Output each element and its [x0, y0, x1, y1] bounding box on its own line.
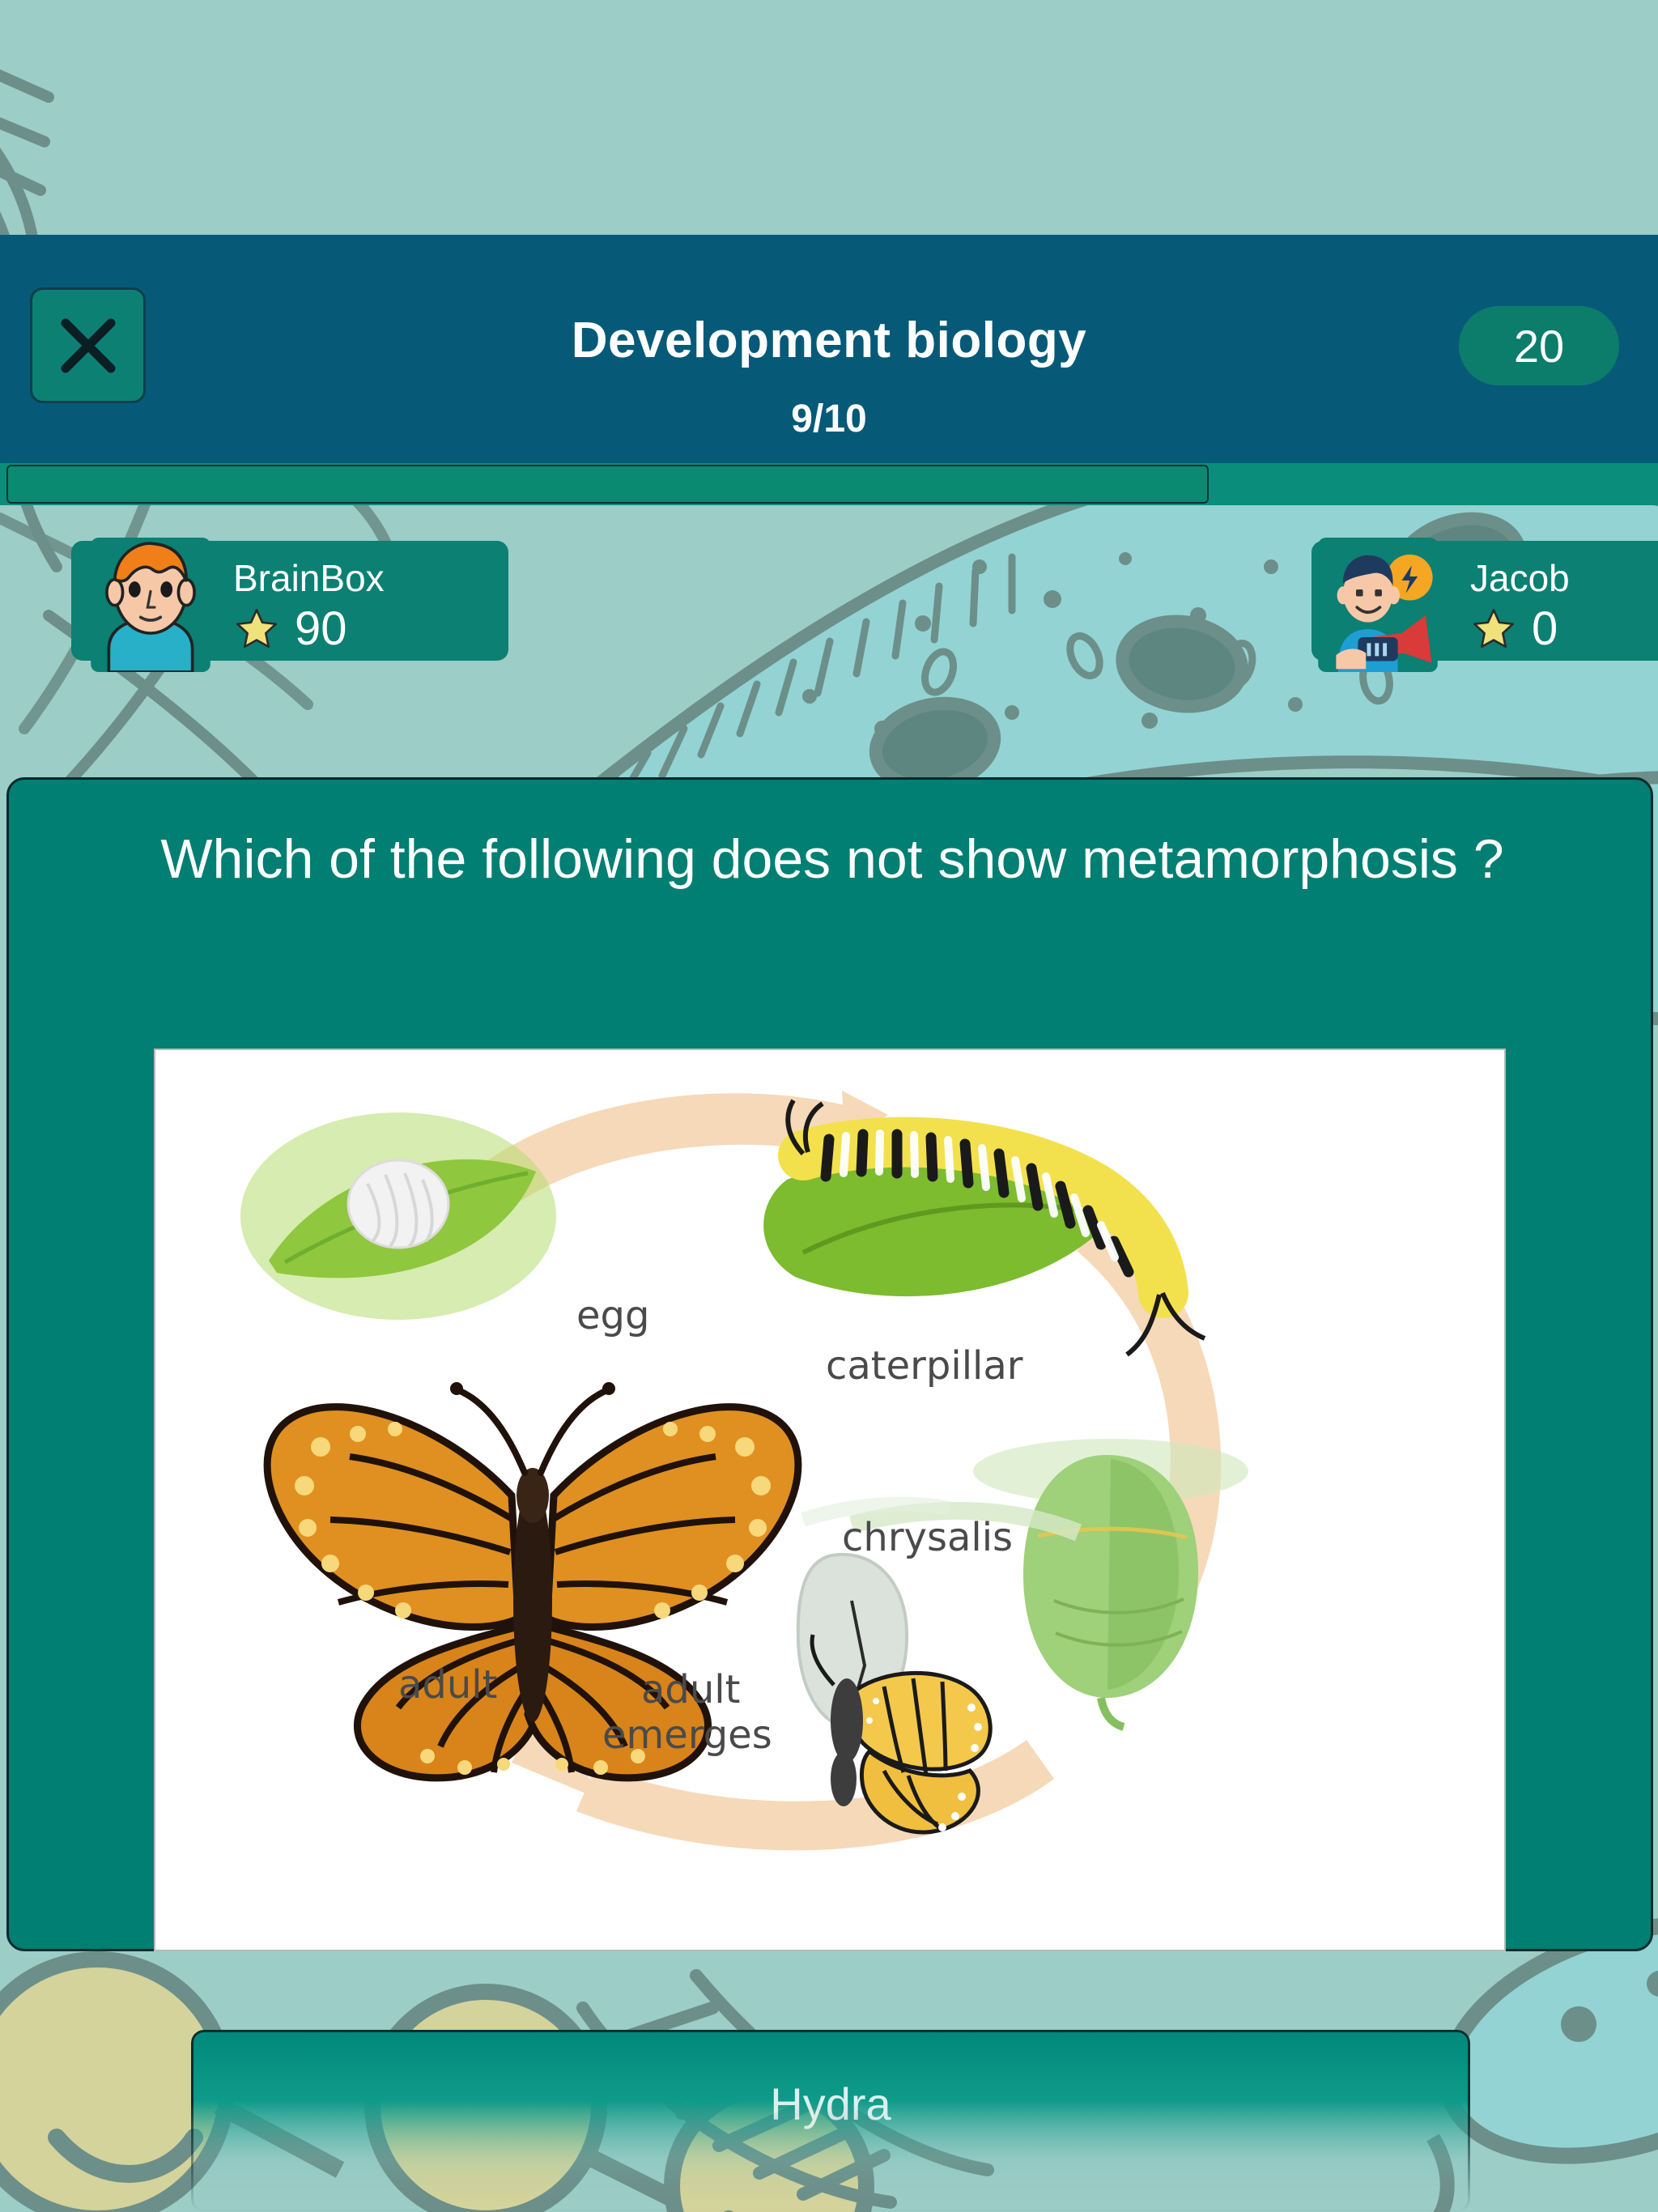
answer-option-label: Hydra — [193, 2078, 1468, 2130]
player-card-brainbox: BrainBox 90 — [71, 541, 508, 661]
progress-bar-fill — [6, 465, 1209, 504]
lifecycle-label-adult-emerges-line2: emerges — [602, 1712, 772, 1758]
avatar — [91, 538, 210, 672]
player-score: 90 — [295, 604, 347, 654]
player-card-jacob: Jacob 0 — [1312, 541, 1658, 661]
star-icon — [233, 606, 280, 653]
question-image-butterfly-life-cycle: egg caterpillar chrysalis adult adult em… — [154, 1049, 1506, 1951]
page-title: Development biology — [0, 312, 1658, 369]
star-icon — [1470, 606, 1517, 653]
lifecycle-label-chrysalis: chrysalis — [842, 1515, 1013, 1560]
lifecycle-label-caterpillar: caterpillar — [826, 1343, 1023, 1389]
lifecycle-label-egg: egg — [576, 1293, 649, 1338]
player-name: BrainBox — [233, 555, 385, 601]
question-text: Which of the following does not show met… — [106, 814, 1558, 904]
score-badge: 20 — [1459, 306, 1619, 385]
lifecycle-label-adult: adult — [398, 1662, 497, 1708]
player-name: Jacob — [1470, 555, 1570, 601]
player-score: 0 — [1532, 604, 1558, 654]
answer-option-hydra[interactable]: Hydra — [191, 2030, 1470, 2212]
lifecycle-label-adult-emerges-line1: adult — [641, 1667, 740, 1712]
avatar — [1318, 538, 1438, 672]
question-counter: 9/10 — [0, 397, 1658, 441]
